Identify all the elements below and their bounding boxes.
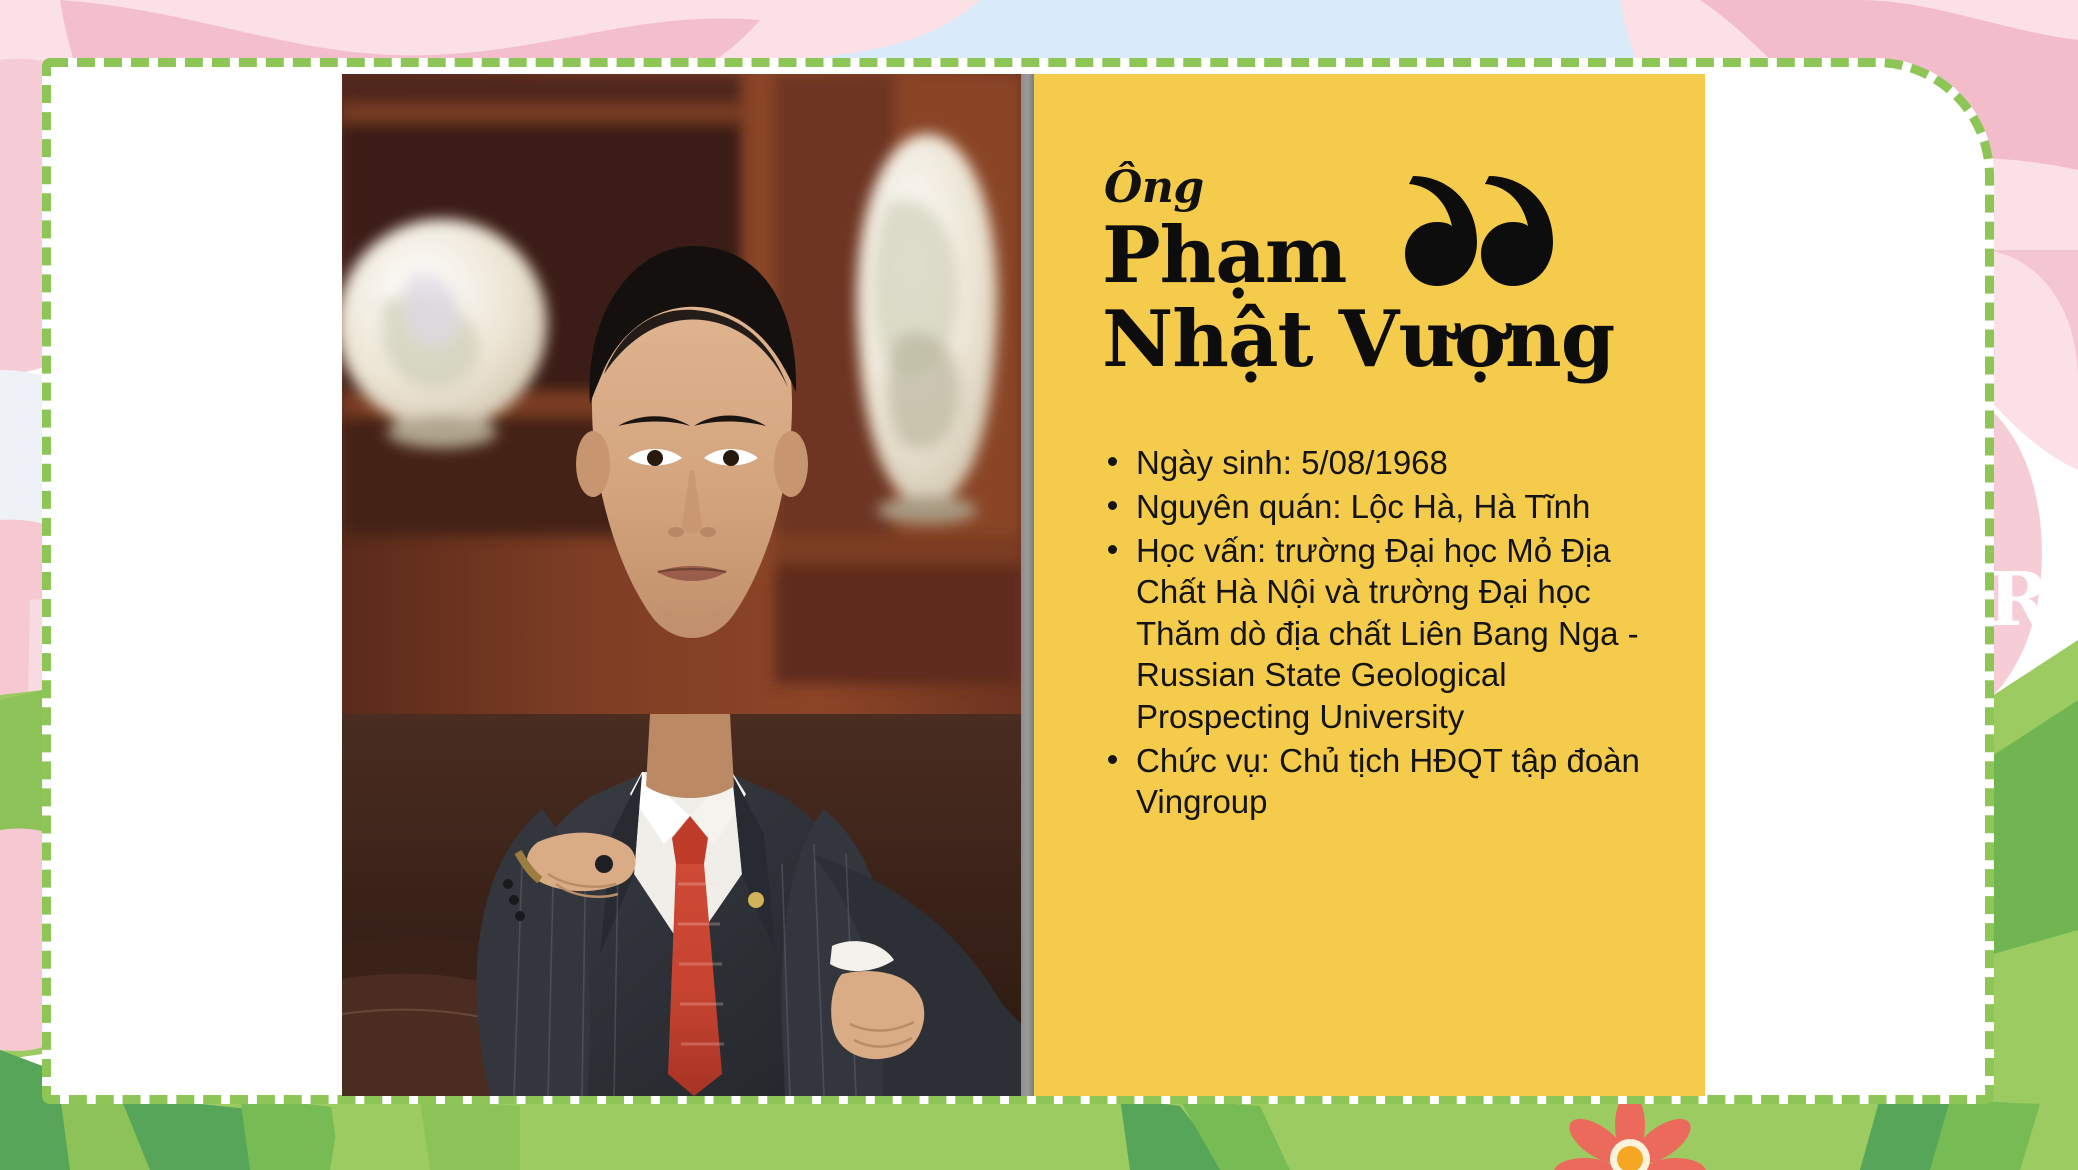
edge-letter-r: R xyxy=(1988,557,2050,643)
portrait-photo xyxy=(342,74,1021,1096)
content-band: Ông Phạm Nhật Vượng Ngày sinh: 5/08/1968… xyxy=(342,74,1705,1096)
slide-root: R xyxy=(0,0,2078,1170)
name-line-2: Nhật Vượng xyxy=(1102,298,1645,382)
honorific-label: Ông xyxy=(1104,166,1645,210)
leaf-bottom-left-6 xyxy=(420,1100,520,1170)
lapel-pin xyxy=(748,892,764,908)
ear-left xyxy=(576,431,610,497)
bullet-birth-date: Ngày sinh: 5/08/1968 xyxy=(1102,442,1645,484)
bullet-education: Học vấn: trường Đại học Mỏ Địa Chất Hà N… xyxy=(1102,530,1645,738)
info-panel: Ông Phạm Nhật Vượng Ngày sinh: 5/08/1968… xyxy=(1034,74,1705,1096)
photo-panel-divider xyxy=(1021,74,1034,1096)
closing-quote-icon xyxy=(1403,160,1553,290)
portrait-illustration xyxy=(342,74,1021,1096)
pupil-left xyxy=(647,450,663,466)
ear-right xyxy=(774,431,808,497)
bullet-position: Chức vụ: Chủ tịch HĐQT tập đoàn Vingroup xyxy=(1102,740,1645,823)
leaf-bottom-left-4 xyxy=(240,1096,340,1170)
name-block: Ông Phạm Nhật Vượng xyxy=(1102,166,1645,382)
nostril-left xyxy=(668,527,684,537)
bio-bullet-list: Ngày sinh: 5/08/1968 Nguyên quán: Lộc Hà… xyxy=(1102,442,1645,822)
neck xyxy=(646,714,734,798)
bullet-hometown: Nguyên quán: Lộc Hà, Hà Tĩnh xyxy=(1102,486,1645,528)
leaf-right-lower xyxy=(1990,930,2078,1090)
name-line-1: Phạm xyxy=(1102,214,1645,298)
jacket-button xyxy=(595,855,613,873)
pupil-right xyxy=(723,450,739,466)
leaf-bottom-left-5 xyxy=(330,1098,430,1170)
nostril-right xyxy=(700,527,716,537)
